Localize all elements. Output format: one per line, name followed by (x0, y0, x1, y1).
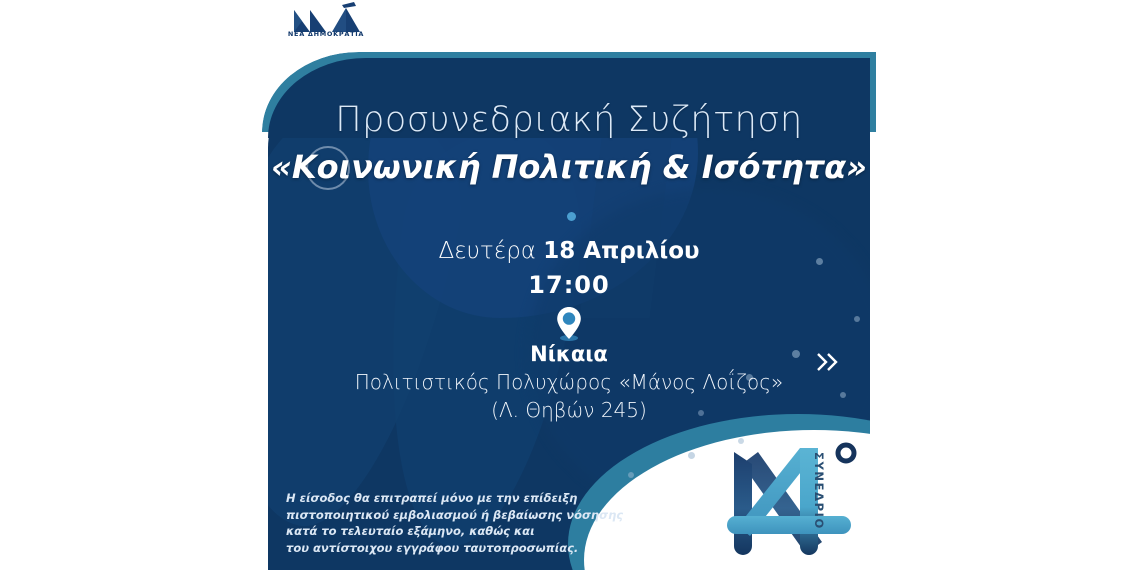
event-date: Δευτέρα 18 Απριλίου (268, 238, 870, 264)
event-poster: ΝΕΑ ΔΗΜΟΚΡΑΤΙΑ (0, 0, 1140, 570)
nd-party-logo (272, 2, 380, 46)
congress-label: ΣΥΝΕΔΡΙΟ (812, 452, 826, 530)
event-address: (Λ. Θηβών 245) (268, 398, 870, 422)
entry-requirements-note: Η είσοδος θα επιτραπεί μόνο με την επίδε… (286, 490, 616, 556)
event-title-line1: Προσυνεδριακή Συζήτηση (268, 100, 870, 140)
event-title-line2: «Κοινωνική Πολιτική & Ισότητα» (268, 148, 870, 186)
event-date-weekday: Δευτέρα (438, 238, 543, 264)
fineprint-line-4: του αντίστοιχου εγγράφου ταυτοπροσωπίας. (286, 540, 616, 557)
map-pin-icon (554, 306, 584, 342)
event-venue: Πολιτιστικός Πολυχώρος «Μάνος Λοΐζος» (268, 370, 870, 394)
event-city: Νίκαια (268, 342, 870, 366)
fineprint-line-2: πιστοποιητικού εμβολιασμού ή βεβαίωσης ν… (286, 507, 616, 524)
divider-dot (567, 212, 576, 221)
nd-party-name: ΝΕΑ ΔΗΜΟΚΡΑΤΙΑ (272, 30, 380, 38)
congress-14-logo-icon (722, 434, 872, 562)
fineprint-line-3: κατά το τελευταίο εξάμηνο, καθώς και (286, 523, 616, 540)
fineprint-line-1: Η είσοδος θα επιτραπεί μόνο με την επίδε… (286, 490, 616, 507)
event-time: 17:00 (268, 271, 870, 299)
event-date-day: 18 Απριλίου (543, 238, 699, 264)
